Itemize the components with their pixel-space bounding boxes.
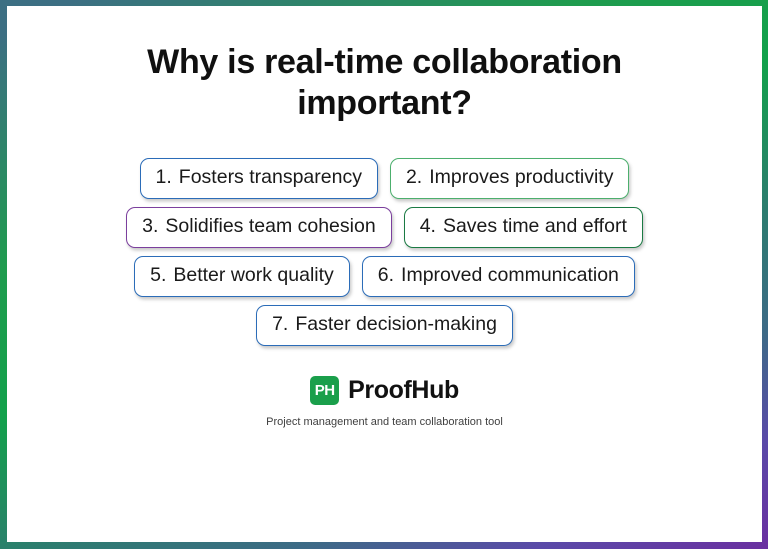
- benefit-label: Fosters transparency: [179, 166, 362, 189]
- brand-tagline: Project management and team collaboratio…: [266, 416, 503, 428]
- benefit-number: 2.: [406, 166, 422, 189]
- benefit-chip-1[interactable]: 1. Fosters transparency: [140, 158, 378, 199]
- brand-name: ProofHub: [348, 376, 459, 405]
- benefit-label: Solidifies team cohesion: [165, 215, 375, 238]
- benefit-label: Saves time and effort: [443, 215, 627, 238]
- brand-lockup: PH ProofHub: [310, 376, 459, 405]
- benefit-list: 1. Fosters transparency 2. Improves prod…: [7, 158, 762, 346]
- benefit-row: 1. Fosters transparency 2. Improves prod…: [140, 158, 630, 199]
- proofhub-logo-icon: PH: [310, 376, 339, 405]
- benefit-label: Better work quality: [173, 264, 333, 287]
- benefit-label: Improves productivity: [429, 166, 613, 189]
- benefit-row: 3. Solidifies team cohesion 4. Saves tim…: [126, 207, 643, 248]
- benefit-number: 4.: [420, 215, 436, 238]
- benefit-number: 3.: [142, 215, 158, 238]
- page-title: Why is real-time collaboration important…: [7, 6, 762, 125]
- benefit-chip-3[interactable]: 3. Solidifies team cohesion: [126, 207, 392, 248]
- benefit-chip-2[interactable]: 2. Improves productivity: [390, 158, 630, 199]
- benefit-number: 6.: [378, 264, 394, 287]
- benefit-label: Improved communication: [401, 264, 619, 287]
- infographic-card: Why is real-time collaboration important…: [0, 0, 768, 549]
- benefit-row: 7. Faster decision-making: [256, 305, 513, 346]
- benefit-number: 5.: [150, 264, 166, 287]
- benefit-number: 1.: [156, 166, 172, 189]
- benefit-row: 5. Better work quality 6. Improved commu…: [134, 256, 635, 297]
- card-canvas: Why is real-time collaboration important…: [7, 6, 762, 542]
- benefit-chip-5[interactable]: 5. Better work quality: [134, 256, 350, 297]
- benefit-chip-7[interactable]: 7. Faster decision-making: [256, 305, 513, 346]
- benefit-chip-6[interactable]: 6. Improved communication: [362, 256, 635, 297]
- benefit-number: 7.: [272, 313, 288, 336]
- benefit-label: Faster decision-making: [295, 313, 497, 336]
- benefit-chip-4[interactable]: 4. Saves time and effort: [404, 207, 643, 248]
